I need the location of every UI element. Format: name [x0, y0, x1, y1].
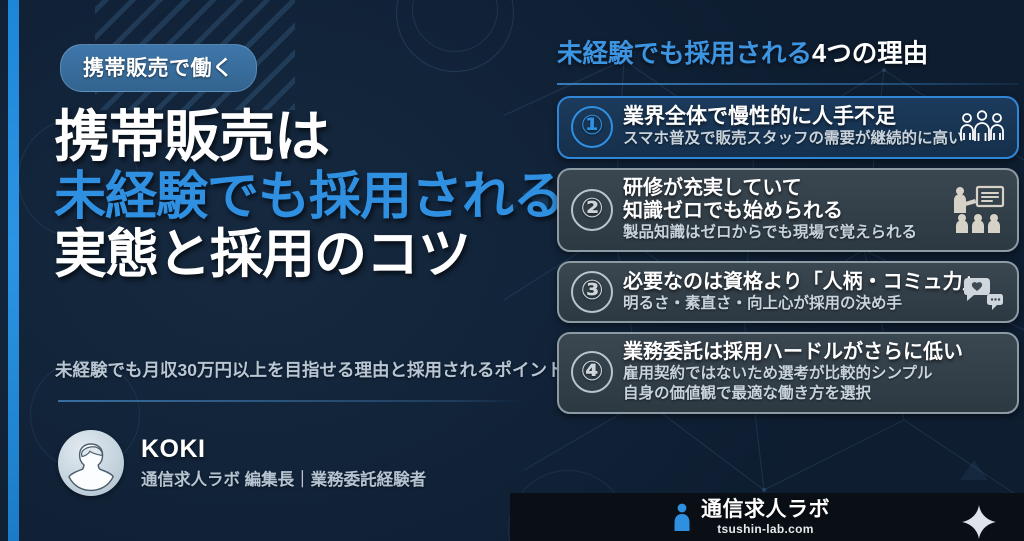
reason-title-1: 業界全体で慢性的に人手不足	[623, 105, 949, 129]
headline-line-1: 携帯販売は	[54, 108, 554, 165]
training-presentation-icon	[949, 185, 1005, 235]
reasons-title-count: 4つの理由	[812, 40, 928, 68]
reason-card-4[interactable]: ④ 業務委託は採用ハードルがさらに低い 雇用契約ではないため選考が比較的シンプル…	[557, 332, 1019, 413]
reason-card-2[interactable]: ② 研修が充実していて 知識ゼロでも始められる 製品知識はゼロからでも現場で覚え…	[557, 168, 1019, 253]
reason-title-2b: 知識ゼロでも始められる	[623, 200, 939, 223]
brand-bar: 通信求人ラボ tsushin-lab.com	[510, 493, 1024, 541]
page-title: 携帯販売は 未経験でも採用される？ 実態と採用のコツ	[54, 108, 554, 282]
reason-sub-4b: 自身の価値観で最適な働き方を選択	[623, 385, 1005, 404]
person-avatar-icon	[58, 430, 124, 496]
author-role: 通信求人ラボ 編集長｜業務委託経験者	[141, 466, 426, 490]
reason-number-4: ④	[571, 351, 613, 393]
headline-line-2: 未経験でも採用される？	[54, 171, 554, 224]
reasons-title-highlight: 未経験でも採用される	[557, 40, 812, 68]
section-divider	[58, 400, 524, 402]
brand-logo-group[interactable]: 通信求人ラボ tsushin-lab.com	[672, 499, 830, 536]
reason-title-3: 必要なのは資格より「人柄・コミュ力」	[623, 271, 951, 294]
reason-sub-4a: 雇用契約ではないため選考が比較的シンプル	[623, 365, 1005, 384]
category-badge: 携帯販売で働く	[60, 44, 257, 92]
brand-name: 通信求人ラボ	[701, 499, 830, 521]
reason-sub-2: 製品知識はゼロからでも現場で覚えられる	[623, 224, 939, 243]
reason-card-3[interactable]: ③ 必要なのは資格より「人柄・コミュ力」 明るさ・素直さ・向上心が採用の決め手	[557, 261, 1019, 323]
reason-number-1: ①	[571, 106, 613, 148]
brand-text: 通信求人ラボ tsushin-lab.com	[701, 499, 830, 536]
subtitle-text: 未経験でも月収30万円以上を目指せる理由と採用されるポイント	[55, 357, 555, 382]
reasons-panel-title: 未経験でも採用される4つの理由	[557, 42, 1019, 68]
reason-number-2: ②	[571, 189, 613, 231]
headline-line-3: 実態と採用のコツ	[54, 228, 554, 282]
sparkle-icon	[962, 505, 996, 539]
reason-title-4: 業務委託は採用ハードルがさらに低い	[623, 341, 1005, 364]
reasons-card-list: ① 業界全体で慢性的に人手不足 スマホ普及で販売スタッフの需要が継続的に高い	[557, 96, 1019, 423]
author-name: KOKI	[141, 436, 426, 464]
people-group-icon	[959, 110, 1005, 144]
reason-title-2: 研修が充実していて	[623, 177, 939, 200]
chat-heart-icon	[961, 277, 1005, 313]
reason-body-3: 必要なのは資格より「人柄・コミュ力」 明るさ・素直さ・向上心が採用の決め手	[623, 271, 951, 314]
panel-underline	[557, 83, 1019, 85]
avatar	[58, 430, 124, 496]
reason-card-1[interactable]: ① 業界全体で慢性的に人手不足 スマホ普及で販売スタッフの需要が継続的に高い	[557, 96, 1019, 159]
reason-body-2: 研修が充実していて 知識ゼロでも始められる 製品知識はゼロからでも現場で覚えられ…	[623, 177, 939, 243]
person-mark-icon	[672, 502, 692, 532]
brand-url: tsushin-lab.com	[717, 523, 814, 536]
reason-sub-3: 明るさ・素直さ・向上心が採用の決め手	[623, 295, 951, 314]
reason-body-1: 業界全体で慢性的に人手不足 スマホ普及で販売スタッフの需要が継続的に高い	[623, 105, 949, 149]
reason-sub-1: スマホ普及で販売スタッフの需要が継続的に高い	[623, 130, 949, 149]
right-column: 未経験でも採用される4つの理由 ① 業界全体で慢性的に人手不足 スマホ普及で販売…	[548, 0, 1024, 541]
author-block: KOKI 通信求人ラボ 編集長｜業務委託経験者	[58, 418, 528, 508]
author-text: KOKI 通信求人ラボ 編集長｜業務委託経験者	[141, 436, 426, 490]
reason-body-4: 業務委託は採用ハードルがさらに低い 雇用契約ではないため選考が比較的シンプル 自…	[623, 341, 1005, 403]
reason-number-3: ③	[571, 271, 613, 313]
left-column: 携帯販売で働く 携帯販売は 未経験でも採用される？ 実態と採用のコツ 未経験でも…	[0, 0, 548, 541]
thumbnail-canvas: 携帯販売で働く 携帯販売は 未経験でも採用される？ 実態と採用のコツ 未経験でも…	[0, 0, 1024, 541]
